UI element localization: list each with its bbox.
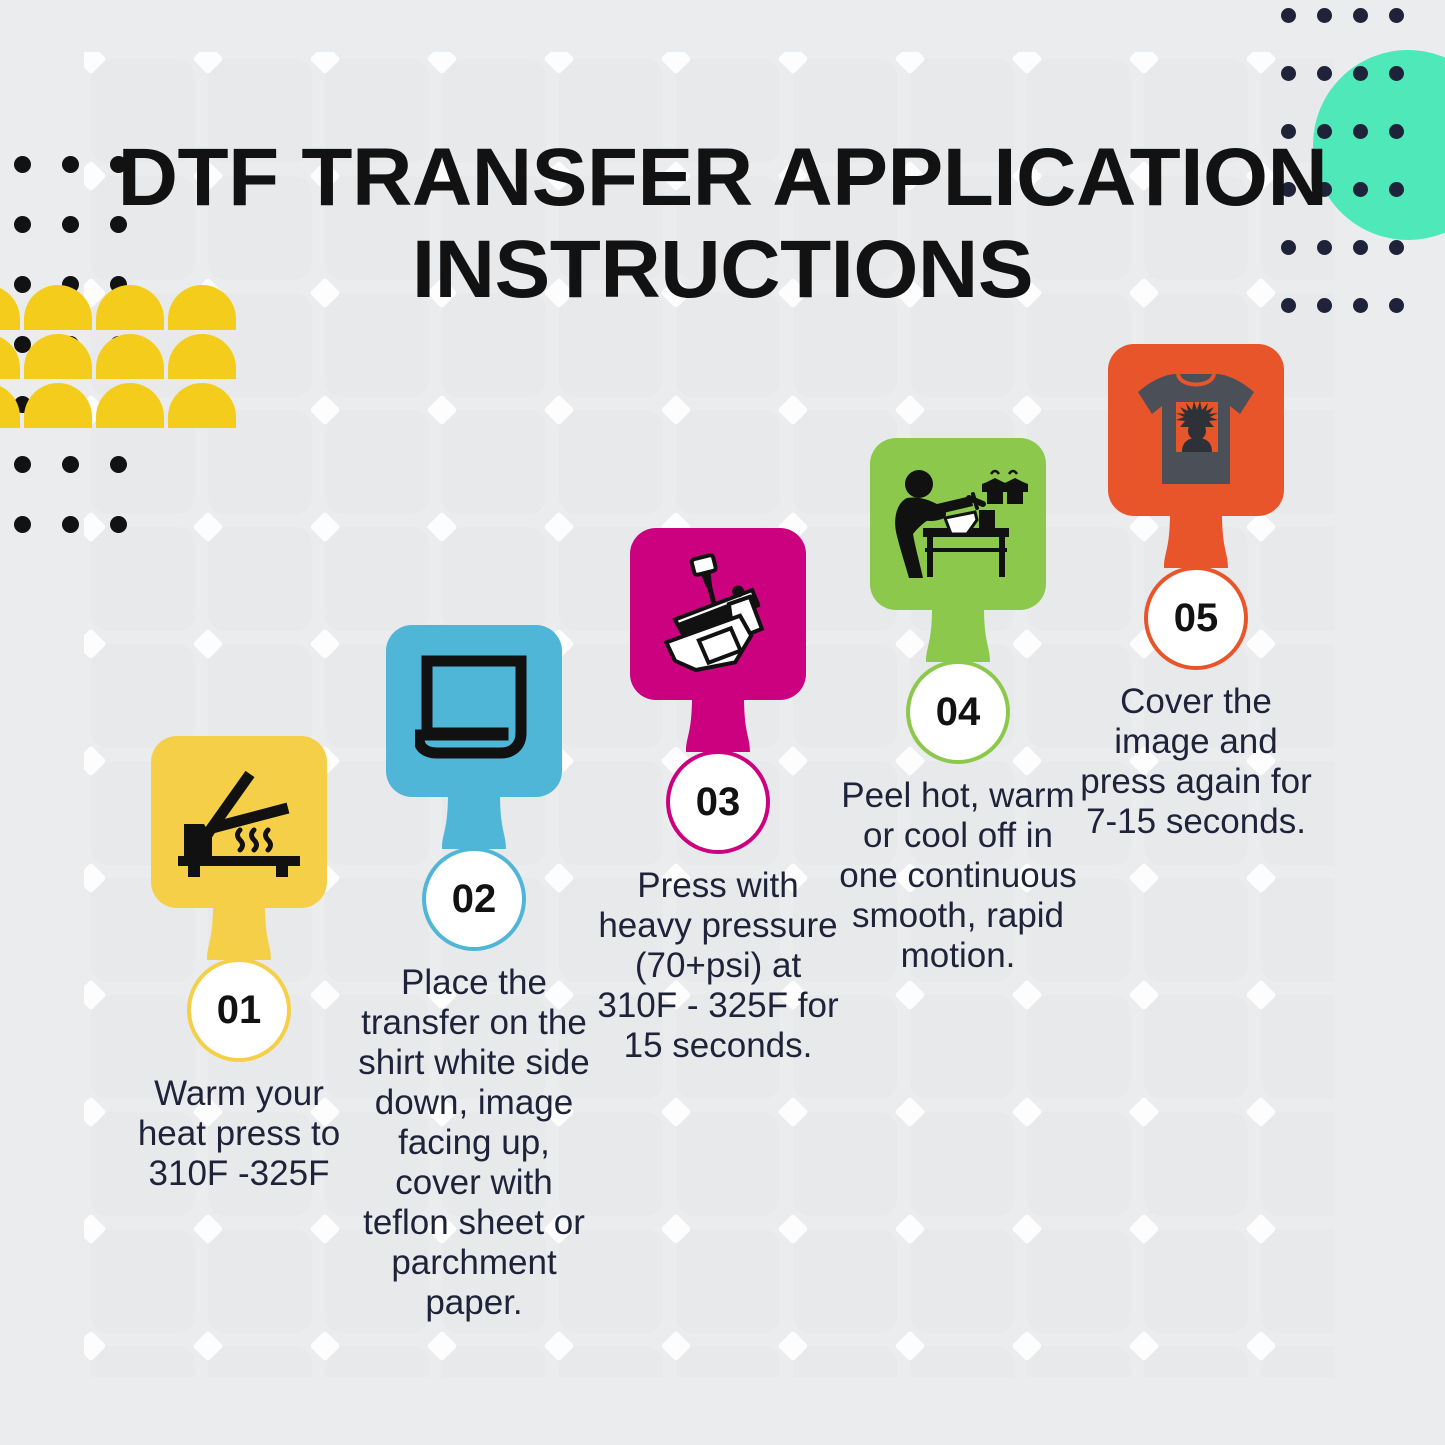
grid-tile [910,1346,1014,1378]
yellow-dome [24,334,92,379]
step-03-icon-card [630,528,806,700]
step-04: 04 Peel hot, warm or cool off in one con… [870,438,1046,610]
grid-tile [1027,1112,1131,1216]
grid-tile [91,1229,195,1333]
grid-tile [325,527,429,631]
grid-tile [1027,1346,1131,1378]
decoration-dot [1389,66,1404,81]
grid-tile [559,1346,663,1378]
step-05-icon-card [1108,344,1284,516]
grid-tile [325,410,429,514]
grid-tile [910,995,1014,1099]
decoration-dot [14,456,31,473]
grid-tile [676,1229,780,1333]
grid-tile [676,410,780,514]
decoration-dot [1389,8,1404,23]
yellow-dome [0,334,20,379]
step-04-icon-card [870,438,1046,610]
grid-tile [1261,878,1335,982]
step-03-number: 03 [670,754,766,850]
grid-tile [1027,1229,1131,1333]
grid-tile [793,1229,897,1333]
grid-tile [910,1229,1014,1333]
yellow-dome [96,383,164,428]
grid-tile [91,1346,195,1378]
step-01-description: Warm your heat press to 310F -325F [116,1074,362,1194]
heat-press-open-icon [176,764,302,880]
step-05-number: 05 [1148,570,1244,666]
grid-tile [1144,1112,1248,1216]
grid-tile [1144,1229,1248,1333]
grid-tile [559,761,663,865]
grid-tile [208,527,312,631]
yellow-dome [0,383,20,428]
step-03-description: Press with heavy pressure (70+psi) at 31… [595,866,841,1066]
dome-row [0,334,240,379]
step-01-icon-card [151,736,327,908]
step-02-icon-card [386,625,562,797]
decoration-dot [1353,66,1368,81]
yellow-dome [168,334,236,379]
decoration-dot [1281,8,1296,23]
grid-tile [676,1112,780,1216]
heat-press-machine-icon [653,551,783,677]
grid-tile [1261,1112,1335,1216]
decoration-dot [14,516,31,533]
grid-tile [1144,995,1248,1099]
person-peeling-transfer-icon [883,460,1033,588]
grid-tile [442,410,546,514]
decoration-dot [62,456,79,473]
step-02-number: 02 [426,851,522,947]
grid-tile [325,1346,429,1378]
grid-tile [1261,527,1335,631]
step-04-number: 04 [910,664,1006,760]
dome-row [0,383,240,428]
step-05-description: Cover the image and press again for 7-15… [1073,682,1319,842]
infographic-canvas: DTF TRANSFER APPLICATION INSTRUCTIONS [0,0,1445,1445]
step-03: 03 Press with heavy pressure (70+psi) at… [630,528,806,700]
grid-tile [793,1112,897,1216]
grid-tile [1261,995,1335,1099]
step-01: 01 Warm your heat press to 310F -325F [151,736,327,908]
page-title: DTF TRANSFER APPLICATION INSTRUCTIONS [0,132,1445,316]
grid-tile [208,644,312,748]
grid-tile [559,410,663,514]
grid-tile [910,1112,1014,1216]
grid-tile [208,1346,312,1378]
transfer-sheet-icon [415,655,533,767]
step-04-description: Peel hot, warm or cool off in one contin… [835,776,1081,976]
decoration-dot [1353,8,1368,23]
page-title-line-1: DTF TRANSFER APPLICATION [0,132,1445,224]
step-01-number: 01 [191,962,287,1058]
yellow-dome [96,334,164,379]
step-05: 05 Cover the image and press again for 7… [1108,344,1284,516]
grid-tile [676,1346,780,1378]
grid-tile [442,1346,546,1378]
decoration-dot [110,456,127,473]
yellow-dome [168,383,236,428]
grid-tile [1027,995,1131,1099]
grid-tile [793,1346,897,1378]
step-02: 02 Place the transfer on the shirt white… [386,625,562,797]
decoration-dot [110,516,127,533]
step-02-description: Place the transfer on the shirt white si… [351,963,597,1323]
decoration-dot [1317,8,1332,23]
decoration-dot [1281,66,1296,81]
grid-tile [1144,878,1248,982]
grid-tile [208,1229,312,1333]
grid-tile [1261,1229,1335,1333]
decoration-dot [62,516,79,533]
yellow-dome [24,383,92,428]
grid-tile [793,644,897,748]
grid-tile [442,527,546,631]
grid-tile [91,644,195,748]
decoration-dot [1317,66,1332,81]
page-title-line-2: INSTRUCTIONS [0,224,1445,316]
grid-tile [1144,1346,1248,1378]
printed-tshirt-icon [1128,368,1264,492]
